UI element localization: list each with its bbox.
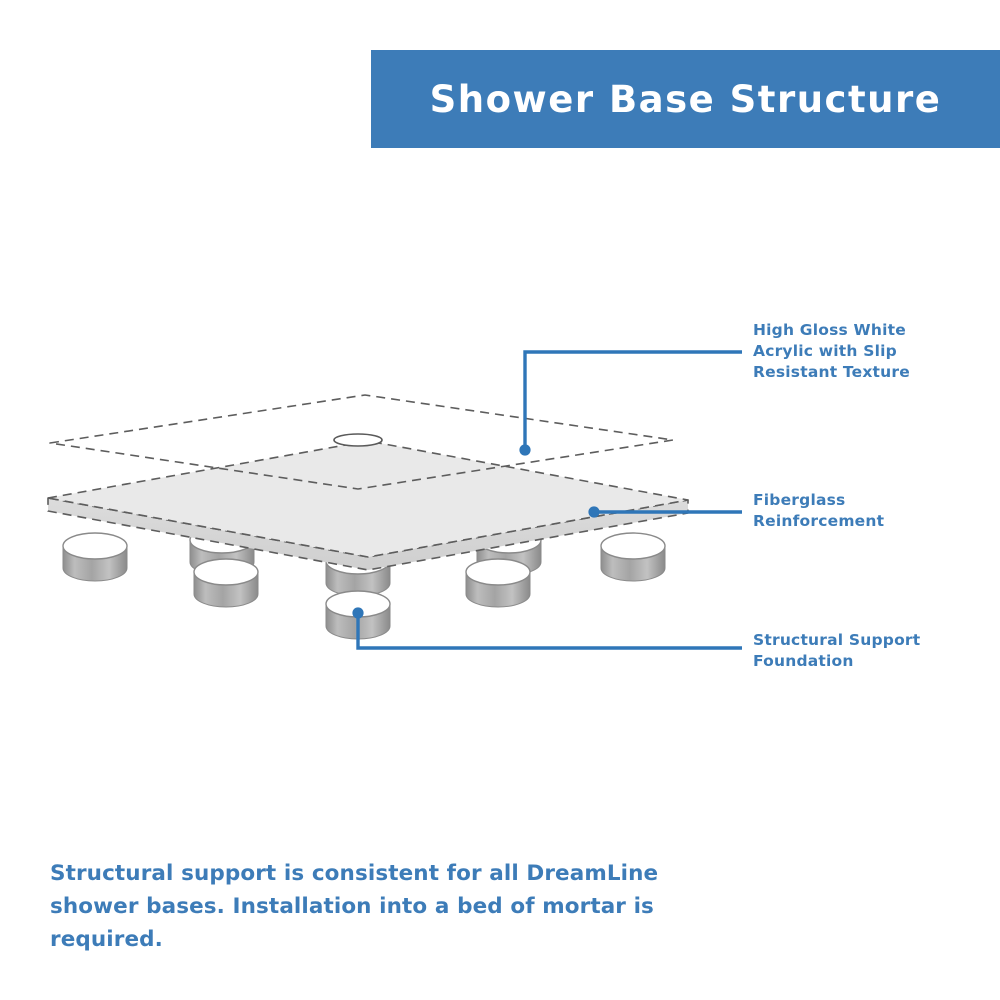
callout-leader-acrylic [519, 352, 742, 456]
fiberglass-slab [48, 441, 688, 570]
support-ring [601, 533, 665, 581]
support-ring [194, 559, 258, 607]
callout-label-acrylic: High Gloss White Acrylic with Slip Resis… [753, 320, 910, 383]
support-ring [63, 533, 127, 581]
bottom-caption: Structural support is consistent for all… [50, 857, 690, 956]
callout-leader-support [352, 607, 742, 648]
callout-label-support: Structural Support Foundation [753, 630, 920, 672]
support-ring [466, 559, 530, 607]
callout-label-fiberglass: Fiberglass Reinforcement [753, 490, 884, 532]
shower-base-diagram: High Gloss White Acrylic with Slip Resis… [0, 0, 1000, 1000]
drain-opening-icon [334, 434, 382, 446]
